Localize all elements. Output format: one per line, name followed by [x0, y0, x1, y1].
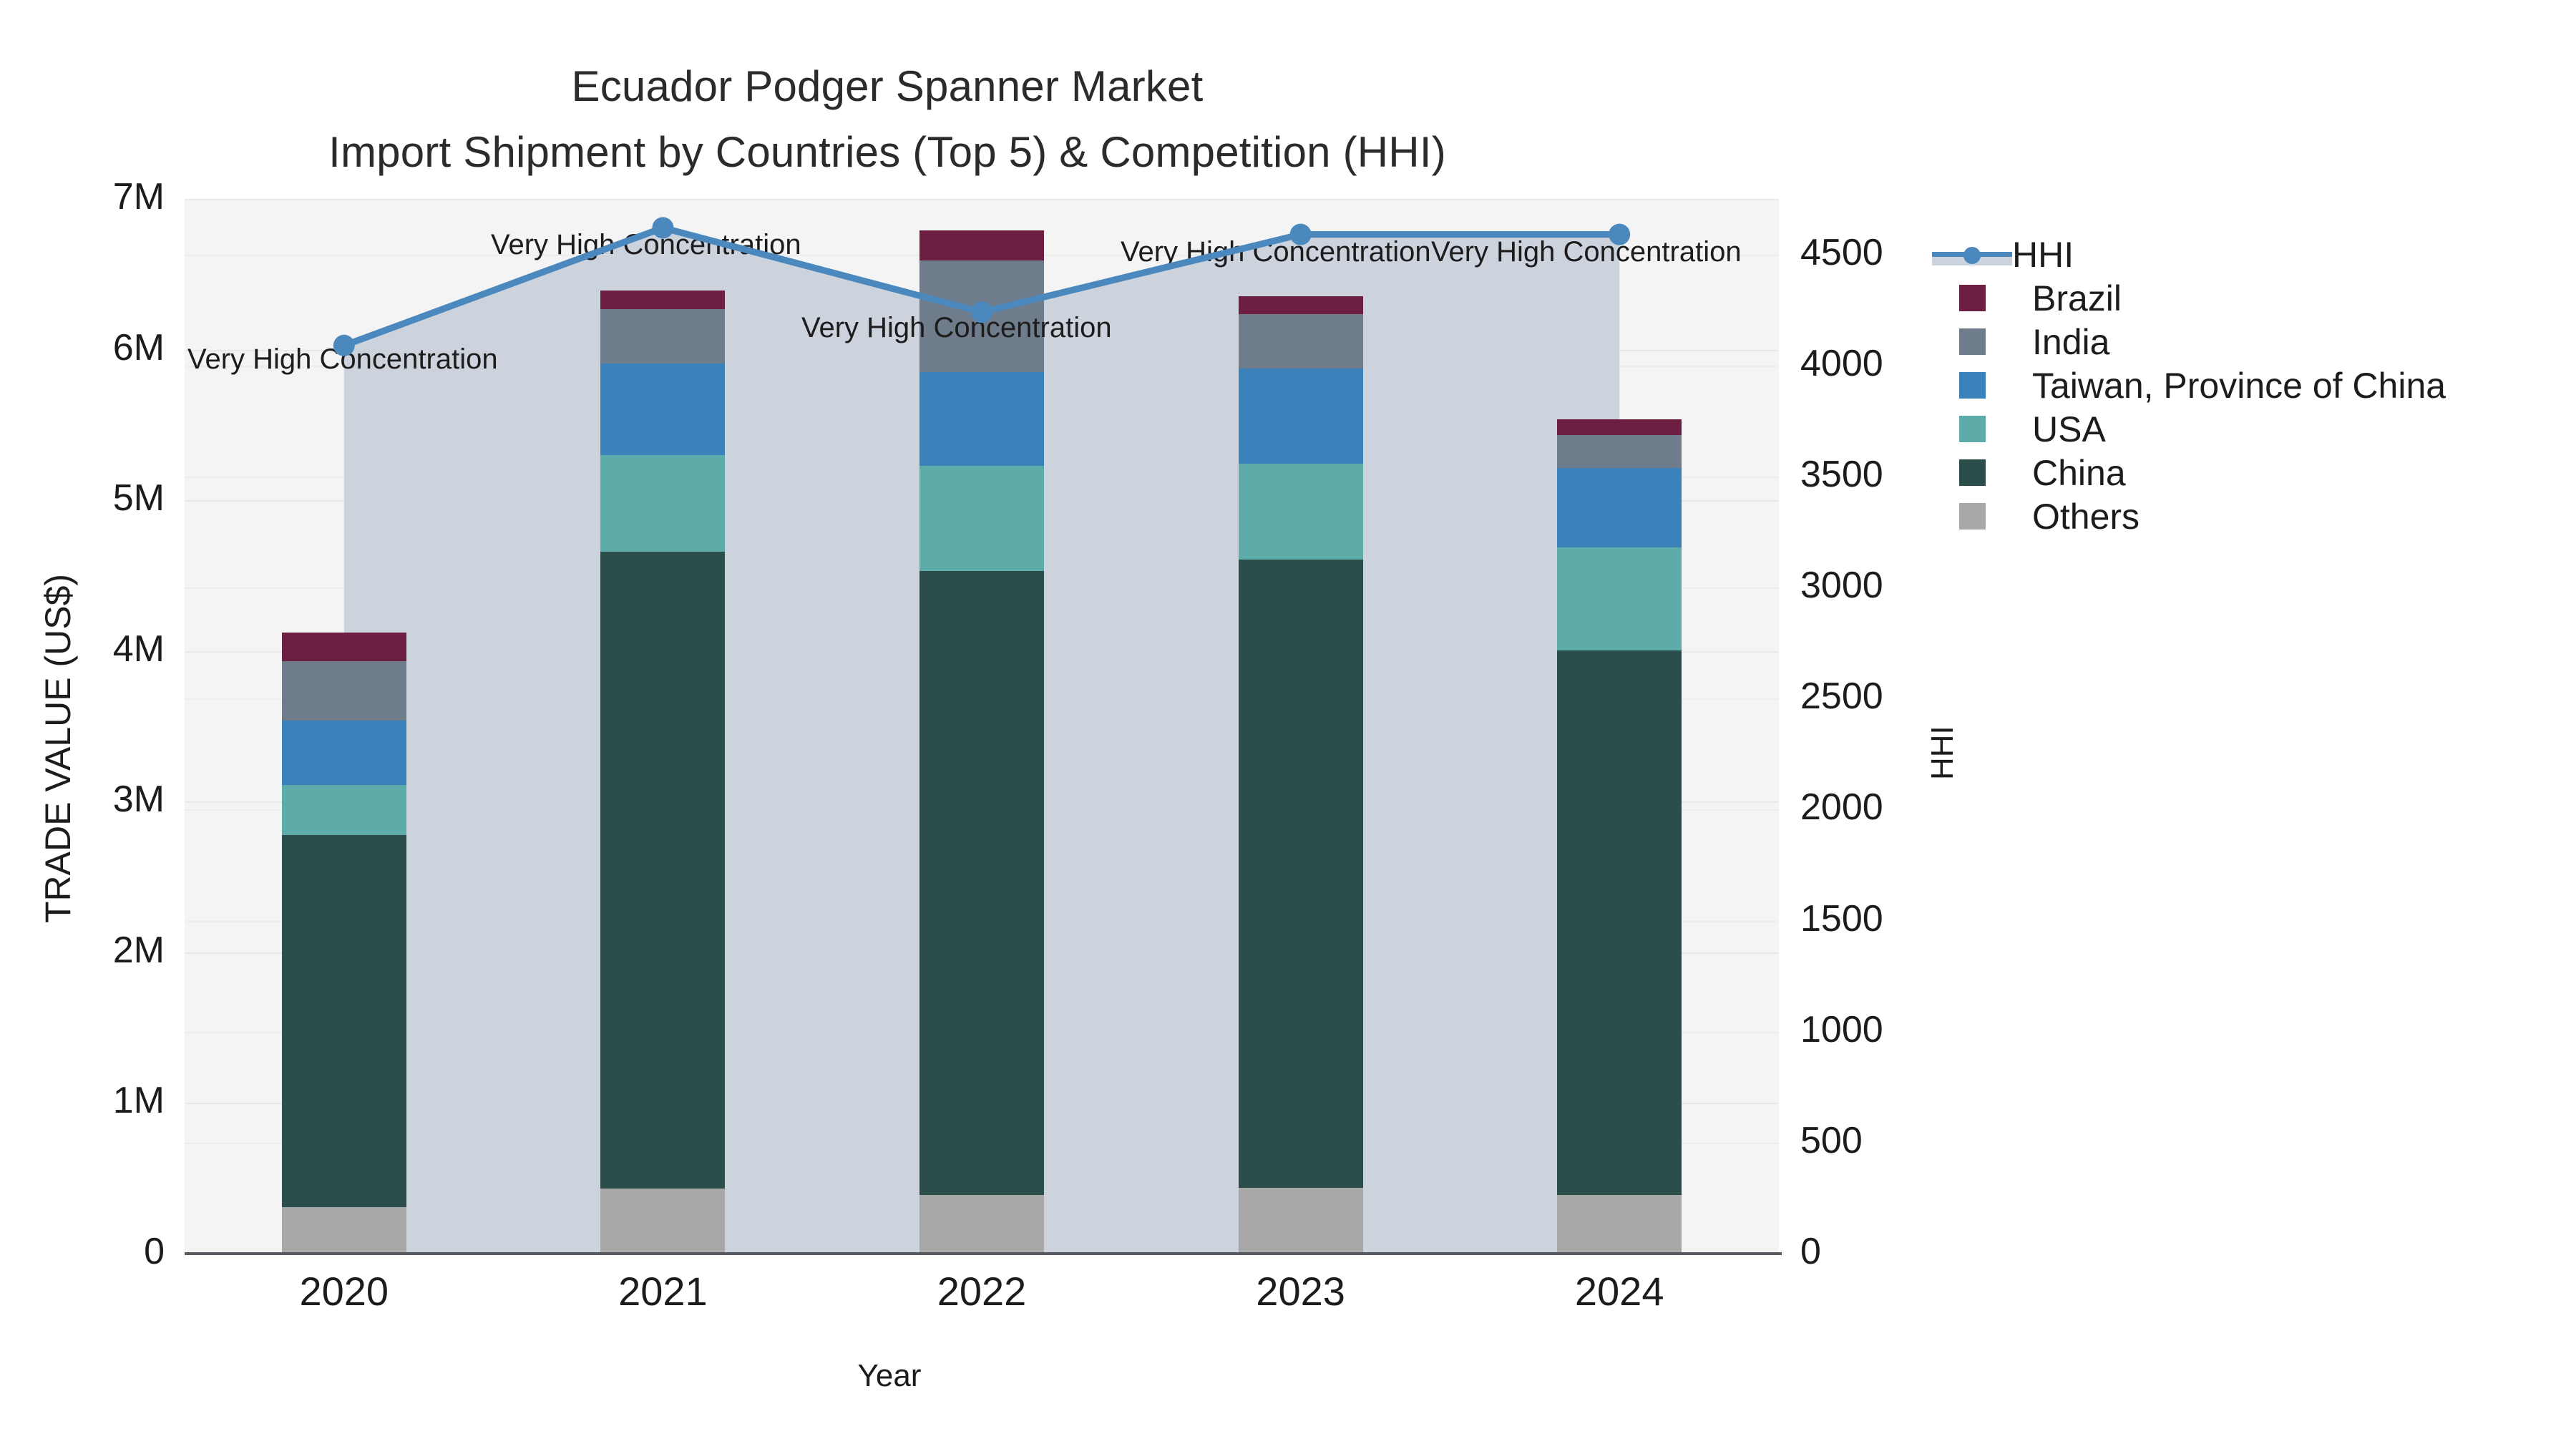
bar-segment[interactable]: [600, 455, 725, 552]
hhi-annotation-label: Very High Concentration: [187, 343, 498, 376]
y-axis-left-tick: 1M: [0, 1079, 165, 1122]
legend-item[interactable]: Others: [1932, 494, 2446, 538]
legend-swatch-icon: [1959, 285, 1986, 311]
bar-segment[interactable]: [1557, 468, 1682, 548]
bar-segment[interactable]: [919, 230, 1044, 260]
x-axis-tick: 2023: [1194, 1268, 1408, 1314]
y-axis-left-tick: 7M: [0, 175, 165, 218]
y-axis-right-tick: 0: [1800, 1230, 1821, 1273]
bar-segment[interactable]: [1239, 314, 1363, 369]
y-axis-right-tick: 4000: [1800, 342, 1883, 385]
y-axis-right-tick: 2500: [1800, 675, 1883, 718]
y-axis-right-tick: 1500: [1800, 897, 1883, 940]
hhi-annotation-label: Very High Concentration: [1121, 236, 1431, 268]
bar-segment[interactable]: [1239, 296, 1363, 314]
bar-segment[interactable]: [1557, 435, 1682, 468]
y-axis-right-tick: 3000: [1800, 564, 1883, 607]
gridline-left: [185, 199, 1779, 200]
y-axis-right-tick: 2000: [1800, 786, 1883, 829]
bar-segment[interactable]: [919, 1195, 1044, 1254]
legend-item-label: Taiwan, Province of China: [2032, 365, 2446, 406]
legend-item[interactable]: India: [1932, 320, 2446, 364]
bar-segment[interactable]: [600, 1189, 725, 1254]
legend-swatch-icon: [1959, 459, 1986, 486]
x-axis-tick: 2021: [555, 1268, 770, 1314]
bar-segment[interactable]: [282, 1207, 406, 1254]
legend-item[interactable]: Brazil: [1932, 276, 2446, 320]
legend-item-label: HHI: [2012, 234, 2074, 275]
bar-segment[interactable]: [600, 291, 725, 308]
legend-swatch-icon: [1959, 503, 1986, 530]
bar-segment[interactable]: [282, 721, 406, 786]
legend-item-label: Brazil: [2032, 278, 2122, 319]
hhi-annotation-label: Very High Concentration: [801, 312, 1112, 344]
bar-segment[interactable]: [282, 661, 406, 720]
chart-figure: Ecuador Podger Spanner Market Import Shi…: [0, 0, 2576, 1449]
x-axis-tick: 2024: [1512, 1268, 1727, 1314]
hhi-annotation-label: Very High Concentration: [491, 229, 801, 261]
legend-item-label: India: [2032, 321, 2109, 363]
bar-segment[interactable]: [600, 309, 725, 364]
bar-segment[interactable]: [282, 785, 406, 834]
y-axis-left-tick: 3M: [0, 778, 165, 821]
bar-segment[interactable]: [1239, 369, 1363, 464]
legend-swatch-icon: [1959, 328, 1986, 355]
y-axis-right-tick: 1000: [1800, 1008, 1883, 1051]
bar-segment[interactable]: [1557, 650, 1682, 1195]
y-axis-right-tick: 3500: [1800, 453, 1883, 496]
legend-swatch-icon: [1959, 372, 1986, 399]
x-axis-tick: 2020: [237, 1268, 452, 1314]
y-axis-left-tick: 0: [0, 1230, 165, 1273]
bar-segment[interactable]: [1239, 1188, 1363, 1254]
bar-segment[interactable]: [600, 552, 725, 1189]
chart-title: Ecuador Podger Spanner Market Import Shi…: [0, 54, 1775, 185]
chart-title-line-2: Import Shipment by Countries (Top 5) & C…: [0, 119, 1775, 185]
bar-segment[interactable]: [1557, 1195, 1682, 1254]
bar-segment[interactable]: [282, 835, 406, 1207]
bar-segment[interactable]: [282, 633, 406, 661]
bar-segment[interactable]: [1557, 547, 1682, 650]
legend-item[interactable]: HHI: [1932, 233, 2446, 276]
chart-legend: HHIBrazilIndiaTaiwan, Province of ChinaU…: [1932, 233, 2446, 538]
y-axis-left-tick: 6M: [0, 326, 165, 369]
y-axis-right-tick: 4500: [1800, 231, 1883, 274]
legend-item-label: Others: [2032, 496, 2140, 537]
legend-item-label: China: [2032, 452, 2126, 494]
bar-segment[interactable]: [919, 571, 1044, 1195]
y-axis-left-tick: 4M: [0, 628, 165, 670]
bar-segment[interactable]: [1239, 464, 1363, 560]
bar-segment[interactable]: [919, 466, 1044, 571]
y-axis-left-tick: 5M: [0, 477, 165, 519]
bar-segment[interactable]: [600, 364, 725, 455]
y-axis-left-title: TRADE VALUE (US$): [37, 574, 79, 923]
hhi-line-icon: [1932, 241, 2012, 268]
bar-segment[interactable]: [919, 372, 1044, 466]
y-axis-right-tick: 500: [1800, 1119, 1863, 1162]
legend-swatch-icon: [1959, 416, 1986, 442]
hhi-annotation-label: Very High Concentration: [1431, 236, 1742, 268]
legend-item-label: USA: [2032, 409, 2106, 450]
bar-segment[interactable]: [1557, 419, 1682, 434]
bar-segment[interactable]: [1239, 560, 1363, 1188]
legend-item[interactable]: USA: [1932, 407, 2446, 451]
x-axis-tick: 2022: [874, 1268, 1089, 1314]
legend-item[interactable]: China: [1932, 451, 2446, 494]
x-axis-spine: [185, 1252, 1782, 1255]
y-axis-left-tick: 2M: [0, 929, 165, 972]
legend-item[interactable]: Taiwan, Province of China: [1932, 364, 2446, 407]
chart-title-line-1: Ecuador Podger Spanner Market: [0, 54, 1775, 119]
y-axis-right-title: HHI: [1925, 726, 1961, 780]
x-axis-title: Year: [0, 1358, 1779, 1394]
